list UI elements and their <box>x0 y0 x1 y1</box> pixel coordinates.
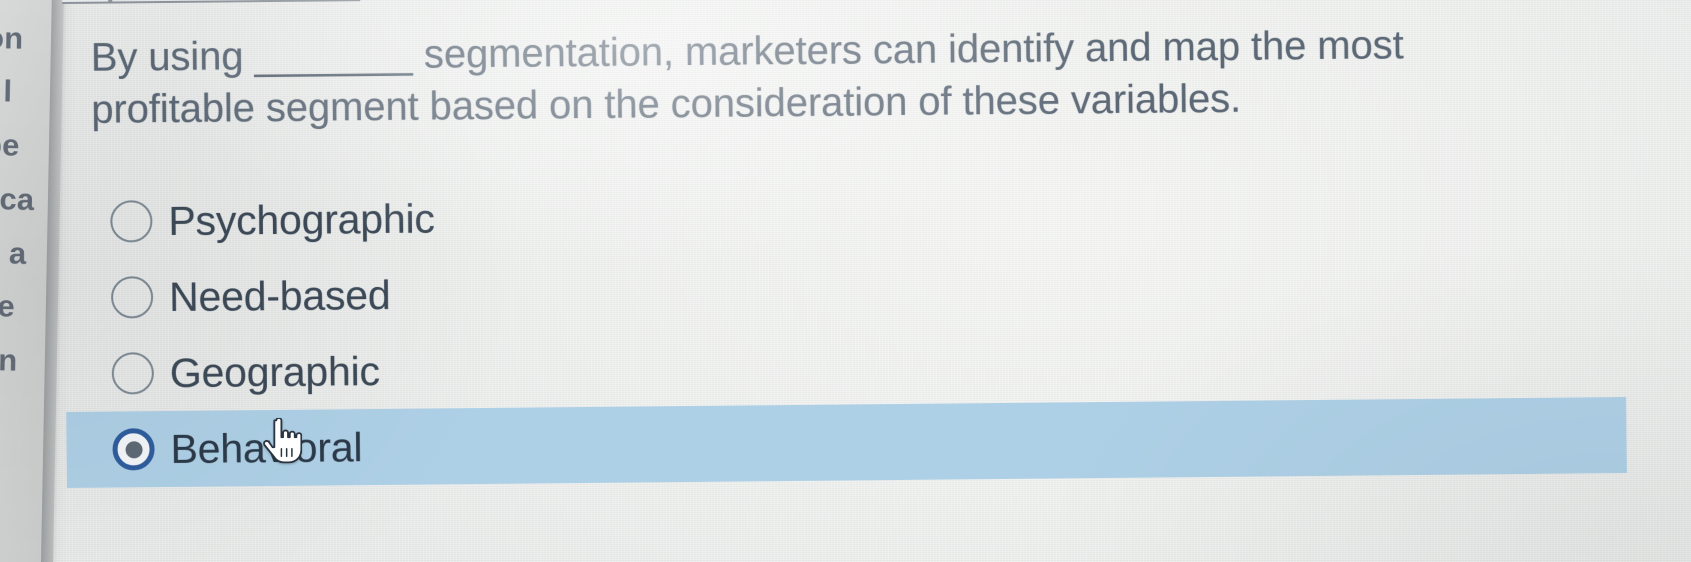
option-label-need-based: Need-based <box>169 271 391 320</box>
answer-options-list: Psychographic Need-based Geographic Beha… <box>64 169 1627 488</box>
clipped-top-cells <box>62 0 362 4</box>
left-adjacent-panel: on t l be cca h a ee tin <box>0 0 64 562</box>
top-cell-3 <box>262 0 360 2</box>
radio-button-geographic[interactable] <box>112 352 154 394</box>
radio-button-need-based[interactable] <box>111 276 153 318</box>
left-panel-fragment-3: cca <box>0 181 35 218</box>
left-panel-fragment-6: tin <box>0 342 18 379</box>
question-text-before-blank: By using <box>91 34 255 80</box>
left-panel-fragment-5: ee <box>0 288 15 325</box>
option-label-geographic: Geographic <box>170 347 380 396</box>
question-text: By using _______ segmentation, marketers… <box>91 18 1522 136</box>
radio-button-psychographic[interactable] <box>110 200 152 242</box>
radio-button-behavioral[interactable] <box>112 428 154 470</box>
option-label-psychographic: Psychographic <box>168 195 435 245</box>
question-blank: _______ <box>254 33 413 79</box>
left-panel-fragment-0: on <box>0 20 24 57</box>
top-cell-1 <box>62 0 110 4</box>
option-behavioral[interactable]: Behavioral <box>66 397 1627 488</box>
question-card: By using _______ segmentation, marketers… <box>62 0 1691 562</box>
left-panel-fragment-2: be <box>0 127 20 164</box>
left-panel-fragment-1: t l <box>0 73 13 110</box>
left-panel-fragment-4: h a <box>0 235 27 272</box>
screenshot-root: on t l be cca h a ee tin By using ______… <box>0 0 1691 562</box>
option-label-behavioral: Behavioral <box>170 424 362 473</box>
top-cell-2 <box>110 0 262 4</box>
